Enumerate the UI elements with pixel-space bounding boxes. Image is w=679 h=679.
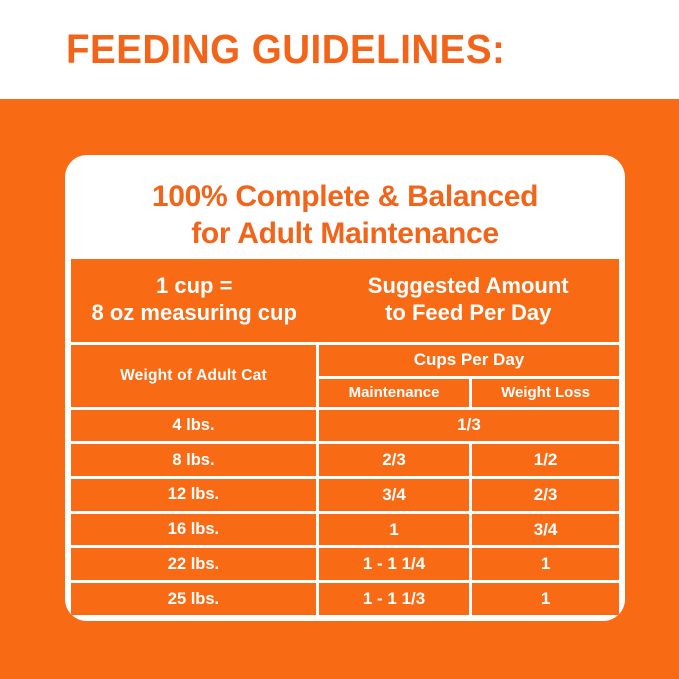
table-row: 22 lbs. 1 - 1 1/4 1 (70, 547, 621, 582)
page-title: FEEDING GUIDELINES: (66, 26, 505, 73)
cell-maintenance: 1 (317, 512, 470, 547)
feeding-guidelines-page: FEEDING GUIDELINES: 100% Complete & Bala… (0, 0, 679, 679)
suggested-amount-line-1: Suggested Amount (317, 273, 619, 300)
table-headline-row: 1 cup = 8 oz measuring cup Suggested Amo… (70, 258, 621, 344)
orange-backdrop: 100% Complete & Balanced for Adult Maint… (0, 99, 679, 679)
table-row: 25 lbs. 1 - 1 1/3 1 (70, 582, 621, 617)
cell-weight: 8 lbs. (70, 443, 318, 478)
suggested-amount-cell: Suggested Amount to Feed Per Day (317, 258, 620, 344)
card-title-line-2: for Adult Maintenance (83, 216, 607, 253)
feeding-card: 100% Complete & Balanced for Adult Maint… (65, 155, 625, 621)
feeding-table-wrap: 1 cup = 8 oz measuring cup Suggested Amo… (65, 253, 625, 621)
cup-equivalence-line-2: 8 oz measuring cup (71, 300, 317, 327)
cell-weight: 16 lbs. (70, 512, 318, 547)
cell-weight-loss: 3/4 (471, 512, 621, 547)
cell-weight: 12 lbs. (70, 477, 318, 512)
table-row: 4 lbs. 1/3 (70, 408, 621, 443)
cell-weight: 4 lbs. (70, 408, 318, 443)
table-row: 8 lbs. 2/3 1/2 (70, 443, 621, 478)
cell-maintenance: 1 - 1 1/3 (317, 582, 470, 617)
table-row: 12 lbs. 3/4 2/3 (70, 477, 621, 512)
card-title: 100% Complete & Balanced for Adult Maint… (65, 155, 625, 268)
card-title-line-1: 100% Complete & Balanced (83, 179, 607, 216)
cell-weight: 25 lbs. (70, 582, 318, 617)
table-row: 16 lbs. 1 3/4 (70, 512, 621, 547)
cell-maintenance: 2/3 (317, 443, 470, 478)
cell-maintenance: 3/4 (317, 477, 470, 512)
cup-equivalence-cell: 1 cup = 8 oz measuring cup (70, 258, 318, 344)
cell-maintenance: 1/3 (317, 408, 620, 443)
header-weight-loss: Weight Loss (471, 378, 621, 408)
cup-equivalence-line-1: 1 cup = (71, 273, 317, 300)
header-maintenance: Maintenance (317, 378, 470, 408)
cell-weight: 22 lbs. (70, 547, 318, 582)
cell-weight-loss: 1/2 (471, 443, 621, 478)
cell-weight-loss: 1 (471, 582, 621, 617)
header-weight-of-adult-cat: Weight of Adult Cat (70, 343, 318, 408)
cell-maintenance: 1 - 1 1/4 (317, 547, 470, 582)
header-cups-per-day: Cups Per Day (317, 343, 620, 378)
cell-weight-loss: 2/3 (471, 477, 621, 512)
table-header-row-1: Weight of Adult Cat Cups Per Day (70, 343, 621, 378)
suggested-amount-line-2: to Feed Per Day (317, 300, 619, 327)
feeding-table: 1 cup = 8 oz measuring cup Suggested Amo… (68, 256, 622, 618)
cell-weight-loss: 1 (471, 547, 621, 582)
page-banner: FEEDING GUIDELINES: (0, 0, 679, 99)
